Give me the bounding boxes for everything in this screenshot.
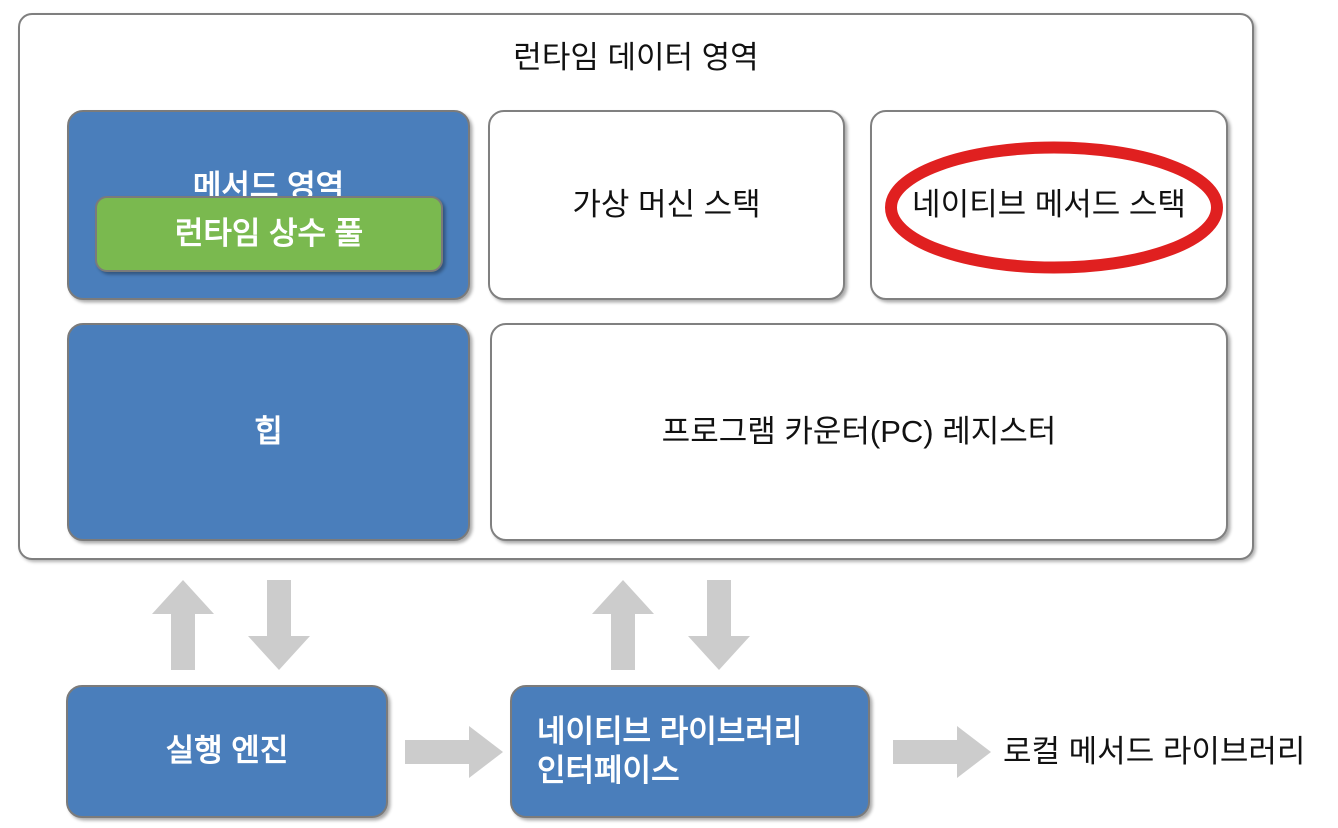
- diagram-canvas: 런타임 데이터 영역 메서드 영역 런타임 상수 풀 가상 머신 스택 네이티브…: [0, 0, 1338, 828]
- vm-stack-box[interactable]: 가상 머신 스택: [488, 110, 845, 300]
- native-method-stack-box[interactable]: 네이티브 메서드 스택: [870, 110, 1228, 300]
- pc-down-arrow-icon: [688, 580, 750, 670]
- runtime-constant-pool-box[interactable]: 런타임 상수 풀: [95, 196, 443, 272]
- native-library-interface-label: 네이티브 라이브러리 인터페이스: [537, 713, 802, 791]
- heap-up-arrow-icon: [152, 580, 214, 670]
- runtime-constant-pool-label: 런타임 상수 풀: [175, 215, 363, 254]
- native-method-stack-label: 네이티브 메서드 스택: [912, 186, 1186, 225]
- heap-box[interactable]: 힙: [67, 323, 470, 541]
- runtime-data-area-title: 런타임 데이터 영역: [0, 38, 1272, 78]
- heap-label: 힙: [254, 413, 283, 452]
- pc-register-label: 프로그램 카운터(PC) 레지스터: [662, 413, 1057, 452]
- local-method-library-label: 로컬 메서드 라이브러리: [1003, 732, 1305, 772]
- vm-stack-label: 가상 머신 스택: [572, 186, 760, 225]
- execution-engine-label: 실행 엔진: [166, 732, 289, 771]
- engine-to-interface-arrow-icon: [405, 726, 503, 778]
- native-library-interface-box[interactable]: 네이티브 라이브러리 인터페이스: [510, 685, 870, 818]
- execution-engine-box[interactable]: 실행 엔진: [66, 685, 388, 818]
- interface-to-library-arrow-icon: [893, 726, 991, 778]
- pc-up-arrow-icon: [592, 580, 654, 670]
- pc-register-box[interactable]: 프로그램 카운터(PC) 레지스터: [490, 323, 1228, 541]
- heap-down-arrow-icon: [248, 580, 310, 670]
